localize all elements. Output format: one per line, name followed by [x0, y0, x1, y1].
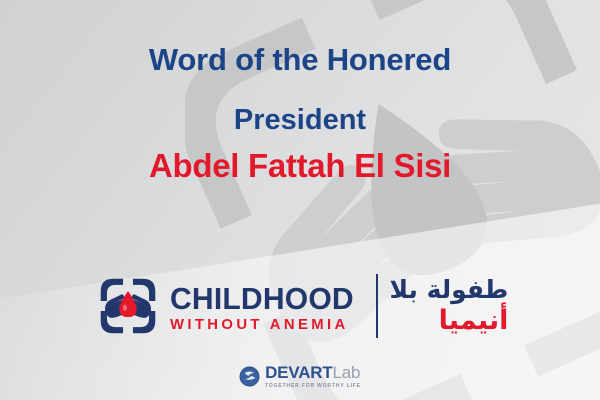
footer-credit: DEVARTLab TOGETHER FOR WORTHY LIFE: [0, 364, 600, 389]
campaign-logo-text-ar: طفولة بلا أنيميا: [390, 276, 509, 336]
campaign-name-ar: طفولة بلا: [390, 276, 509, 305]
subject-role: President: [0, 105, 600, 135]
vertical-divider-icon: [376, 274, 378, 338]
devart-brand-primary: DEVART: [265, 363, 332, 382]
headline-block: Word of the Honered President Abdel Fatt…: [0, 44, 600, 184]
campaign-tagline-ar: أنيميا: [390, 305, 509, 336]
devart-brand: DEVARTLab: [265, 364, 361, 382]
devart-wordmark: DEVARTLab TOGETHER FOR WORTHY LIFE: [265, 364, 361, 389]
subject-name: Abdel Fattah El Sisi: [0, 149, 600, 184]
devart-swirl-icon: [239, 366, 260, 387]
devart-brand-secondary: Lab: [333, 363, 361, 382]
hands-blood-drop-icon: [97, 275, 159, 337]
campaign-logo-text-en: CHILDHOOD WITHOUT ANEMIA: [170, 281, 360, 332]
presentation-slide: Word of the Honered President Abdel Fatt…: [0, 0, 600, 400]
campaign-logo: CHILDHOOD WITHOUT ANEMIA طفولة بلا أنيمي…: [97, 266, 517, 346]
page-title: Word of the Honered: [0, 44, 600, 77]
campaign-name-en: CHILDHOOD: [170, 283, 354, 314]
campaign-tagline-en: WITHOUT ANEMIA: [170, 317, 358, 332]
devart-tagline: TOGETHER FOR WORTHY LIFE: [265, 384, 361, 389]
